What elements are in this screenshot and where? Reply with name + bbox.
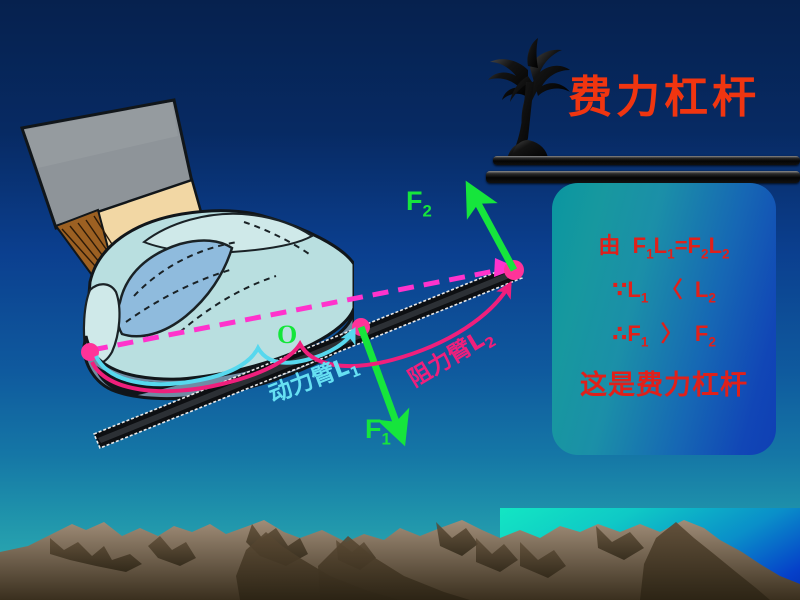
resistance-force-letter: F: [406, 186, 423, 216]
slide-canvas: O F2 F1 动力臂L1 阻力臂L2: [0, 0, 800, 600]
page-title: 费力杠杆: [568, 76, 760, 120]
formula-line-2-prefix: ∵: [612, 277, 627, 302]
effort-force-letter: F: [365, 414, 382, 444]
formula-line-3-prefix: ∴: [612, 321, 627, 346]
fulcrum-label: O: [277, 322, 297, 348]
resistance-arm-text: 阻力臂L: [404, 327, 489, 392]
formula-line-4: 这是费力杠杆: [580, 372, 748, 399]
title-banner: 费力杠杆: [468, 34, 800, 164]
foot-on-lever-illustration: [0, 96, 354, 456]
lever-axis-arrowhead: [494, 258, 518, 277]
resistance-force-label: F2: [406, 188, 432, 220]
conclusion-box: 由 F1L1=F2L2 ∵L1 〈 L2 ∴F1 〉 F2 这是费力杠杆: [552, 183, 776, 455]
title-bar-upper: [493, 156, 800, 165]
effort-force-label: F1: [365, 416, 391, 448]
resistance-force-subscript: 2: [423, 201, 432, 220]
resistance-point-dot: [504, 260, 524, 280]
formula-line-2: ∵L1 〈 L2: [612, 279, 716, 305]
formula-line-1: 由 F1L1=F2L2: [598, 235, 729, 261]
formula-line-1-prefix: 由: [598, 233, 620, 258]
effort-force-subscript: 1: [382, 429, 391, 448]
title-bar-lower: [486, 171, 800, 183]
mountain-range: [0, 480, 800, 600]
formula-line-3: ∴F1 〉 F2: [612, 323, 716, 349]
resistance-arm-label: 阻力臂L2: [405, 324, 499, 395]
effort-point-dot: [352, 318, 370, 336]
resistance-force-arrow: [474, 196, 514, 270]
